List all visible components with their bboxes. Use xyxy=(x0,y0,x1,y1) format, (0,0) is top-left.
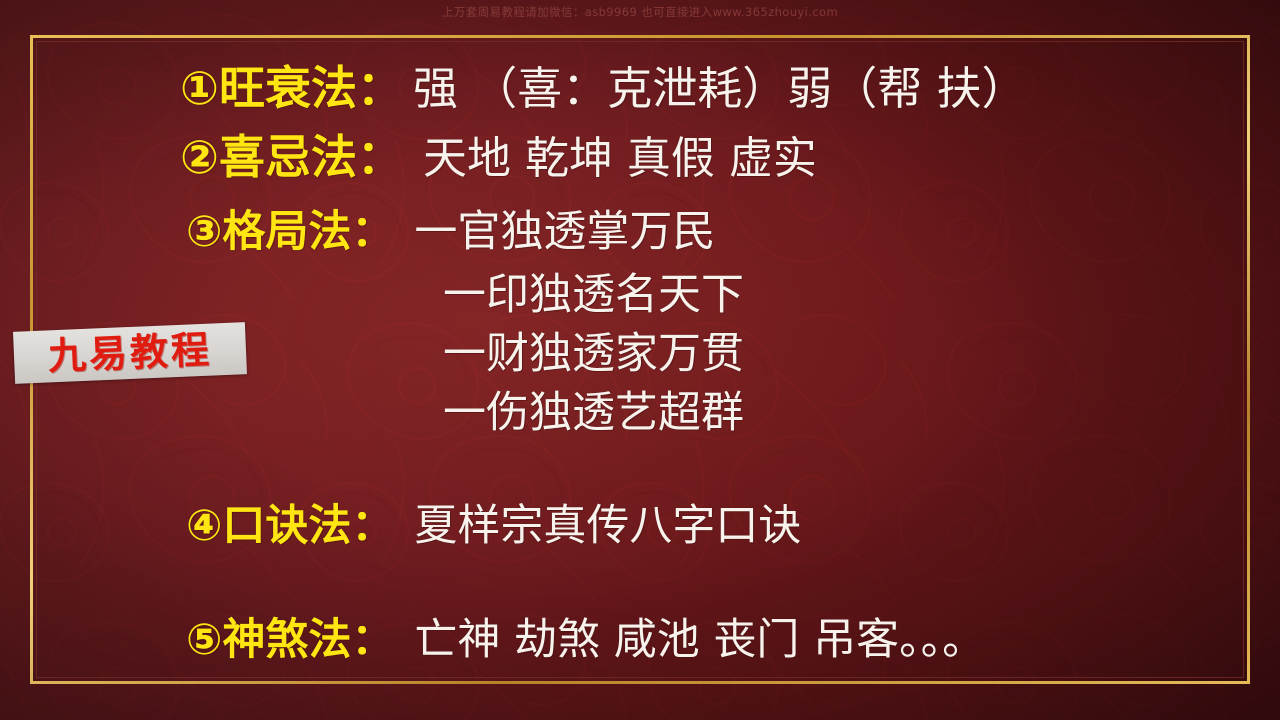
line3-value: 一官独透掌万民 xyxy=(414,207,715,257)
line1-key: ①旺衰法： xyxy=(180,61,403,115)
list-item-xiji: ②喜忌法：天地 乾坤 真假 虚实 xyxy=(180,134,817,181)
line5-key: ⑤神煞法： xyxy=(186,615,394,665)
line4-key: ④口诀法： xyxy=(186,501,394,551)
line3-key: ③格局法： xyxy=(186,207,394,257)
promo-strip: 上万套周易教程请加微信：asb9969 也可直接进入www.365zhouyi.… xyxy=(0,0,1280,24)
list-item-wangshuai: ①旺衰法：强 （喜：克泄耗）弱（帮 扶） xyxy=(180,65,1027,111)
list-item-geju: ③格局法：一官独透掌万民 xyxy=(186,211,715,254)
line5-value: 亡神 劫煞 咸池 丧门 吊客。。。 xyxy=(414,615,985,665)
list-item-koujue: ④口诀法：夏样宗真传八字口诀 xyxy=(186,505,801,548)
slide-canvas: 上万套周易教程请加微信：asb9969 也可直接进入www.365zhouyi.… xyxy=(0,0,1280,720)
geju-subline-1: 一印独透名天下 xyxy=(443,274,744,317)
geju-subline-2: 一财独透家万贯 xyxy=(443,333,744,376)
watermark-label: 九易教程 xyxy=(47,331,212,376)
line4-value: 夏样宗真传八字口诀 xyxy=(414,501,801,551)
watermark-badge: 九易教程 xyxy=(13,322,247,384)
list-item-shensha: ⑤神煞法：亡神 劫煞 咸池 丧门 吊客。。。 xyxy=(186,619,985,662)
geju-subline-3: 一伤独透艺超群 xyxy=(443,392,744,435)
line1-value: 强 （喜：克泄耗）弱（帮 扶） xyxy=(413,62,1027,115)
promo-text: 上万套周易教程请加微信：asb9969 也可直接进入www.365zhouyi.… xyxy=(442,4,838,20)
line2-value: 天地 乾坤 真假 虚实 xyxy=(423,133,817,184)
line2-key: ②喜忌法： xyxy=(180,130,403,184)
